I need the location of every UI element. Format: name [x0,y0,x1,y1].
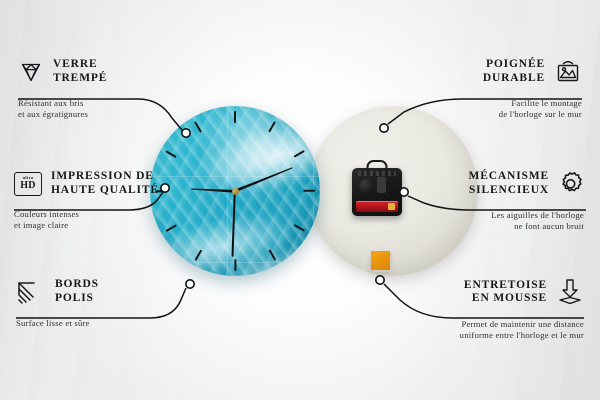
clock-tick [234,111,236,123]
callout-header: BORDS POLIS [16,278,176,305]
callout-subtitle: uniforme entre l'horloge et le mur [374,330,584,341]
callout-mecanisme-silencieux: MÉCANISME SILENCIEUX Les aiguilles de l'… [388,170,584,232]
callout-title: MÉCANISME SILENCIEUX [469,170,550,197]
callout-subtitle: ne font aucun bruit [388,221,584,232]
callout-subtitle: de l'horloge sur le mur [406,109,582,120]
callout-title: POIGNÉE DURABLE [483,58,545,85]
gear-icon [558,171,584,197]
foam-spacer-part [371,251,390,270]
mechanism-switch [377,177,386,193]
callout-verre-trempe: VERRE TREMPÉ Résistant aux bris et aux é… [18,58,178,120]
ultra-hd-icon: ultra HD [14,172,42,196]
callout-header: ultra HD IMPRESSION DE HAUTE QUALITÉ [14,170,184,197]
foam-spacer-icon [556,278,584,306]
clock-tick [165,150,177,158]
callout-title: IMPRESSION DE HAUTE QUALITÉ [51,170,159,197]
callout-header: POIGNÉE DURABLE [406,58,582,85]
callout-title: BORDS POLIS [55,278,99,305]
clock-tick [293,150,305,158]
callout-subtitle: et aux égratignures [18,109,178,120]
callout-title: VERRE TREMPÉ [53,58,107,85]
clock-tick [268,249,276,261]
callout-subtitle: Permet de maintenir une distance [374,319,584,330]
ultra-hd-icon-large-text: HD [20,181,35,191]
callout-subtitle: Surface lisse et sûre [16,318,176,329]
clock-center-cap [232,188,239,195]
callout-poignee-durable: POIGNÉE DURABLE Facilite le montage de l… [406,58,582,120]
callout-entretoise-en-mousse: ENTRETOISE EN MOUSSE Permet de maintenir… [374,278,584,341]
callout-header: ENTRETOISE EN MOUSSE [374,278,584,306]
second-hand [232,191,236,257]
clock-tick [194,121,202,133]
mechanism-dial [359,179,372,192]
callout-subtitle: Facilite le montage [406,98,582,109]
clock-tick [293,224,305,232]
infographic-canvas: VERRE TREMPÉ Résistant aux bris et aux é… [0,0,600,400]
clock-tick [194,249,202,261]
callout-impression-haute-qualite: ultra HD IMPRESSION DE HAUTE QUALITÉ Cou… [14,170,184,231]
clock-tick [268,121,276,133]
clock-tick [303,190,315,192]
minute-hand [234,166,293,193]
callout-subtitle: Les aiguilles de l'horloge [388,210,584,221]
polished-edges-icon [16,280,46,304]
hour-hand [191,186,235,193]
callout-bords-polis: BORDS POLIS Surface lisse et sûre [16,278,176,329]
clock-tick [234,259,236,271]
callout-header: VERRE TREMPÉ [18,58,178,85]
diamond-icon [18,60,44,84]
callout-subtitle: et image claire [14,220,184,231]
callout-subtitle: Couleurs intenses [14,209,184,220]
callout-header: MÉCANISME SILENCIEUX [388,170,584,197]
callout-subtitle: Résistant aux bris [18,98,178,109]
callout-title: ENTRETOISE EN MOUSSE [464,279,547,306]
picture-hanger-icon [554,59,582,85]
